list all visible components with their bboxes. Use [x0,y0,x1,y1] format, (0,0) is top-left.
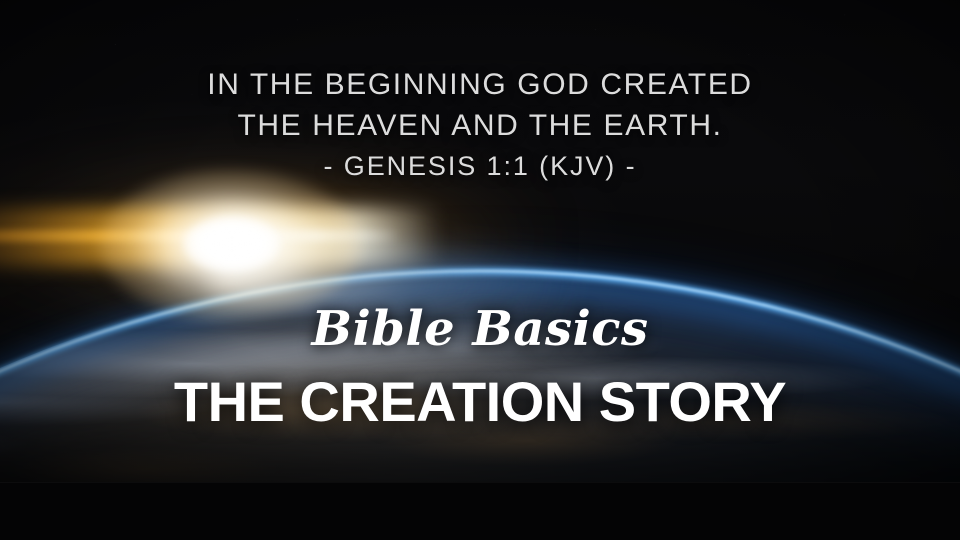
scripture-line-1: IN THE BEGINNING GOD CREATED [0,64,960,105]
scripture-quote: IN THE BEGINNING GOD CREATED THE HEAVEN … [0,64,960,187]
creation-story-slide: IN THE BEGINNING GOD CREATED THE HEAVEN … [0,0,960,540]
page-title: THE CREATION STORY [0,370,960,434]
scripture-line-2: THE HEAVEN AND THE EARTH. [0,105,960,146]
scripture-reference: - GENESIS 1:1 (KJV) - [0,146,960,187]
series-title: Bible Basics [0,300,960,358]
sun-hotspot [184,217,280,271]
